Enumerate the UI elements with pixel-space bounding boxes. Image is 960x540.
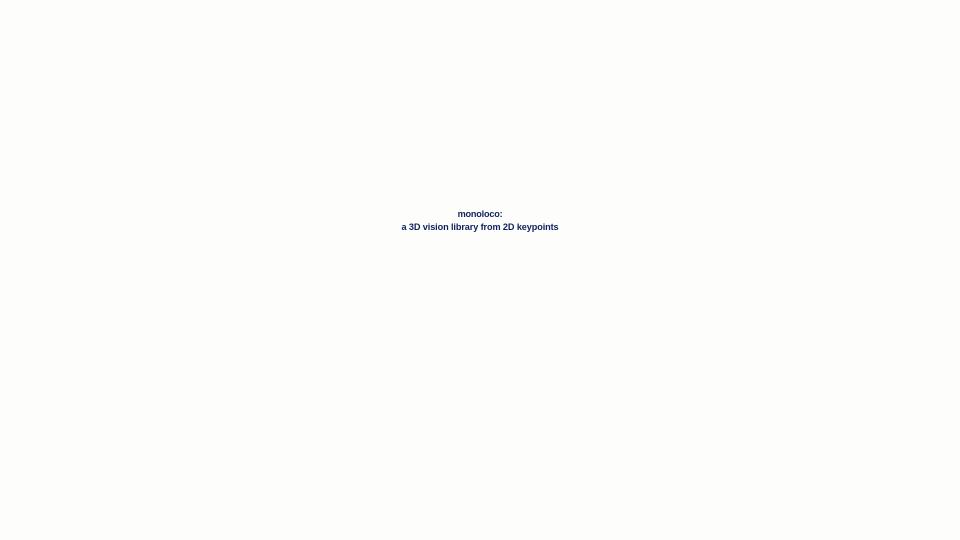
title-line-project-name: monoloco: (0, 208, 960, 221)
title-slide: monoloco: a 3D vision library from 2D ke… (0, 0, 960, 540)
title-block: monoloco: a 3D vision library from 2D ke… (0, 208, 960, 234)
title-line-subtitle: a 3D vision library from 2D keypoints (0, 221, 960, 234)
